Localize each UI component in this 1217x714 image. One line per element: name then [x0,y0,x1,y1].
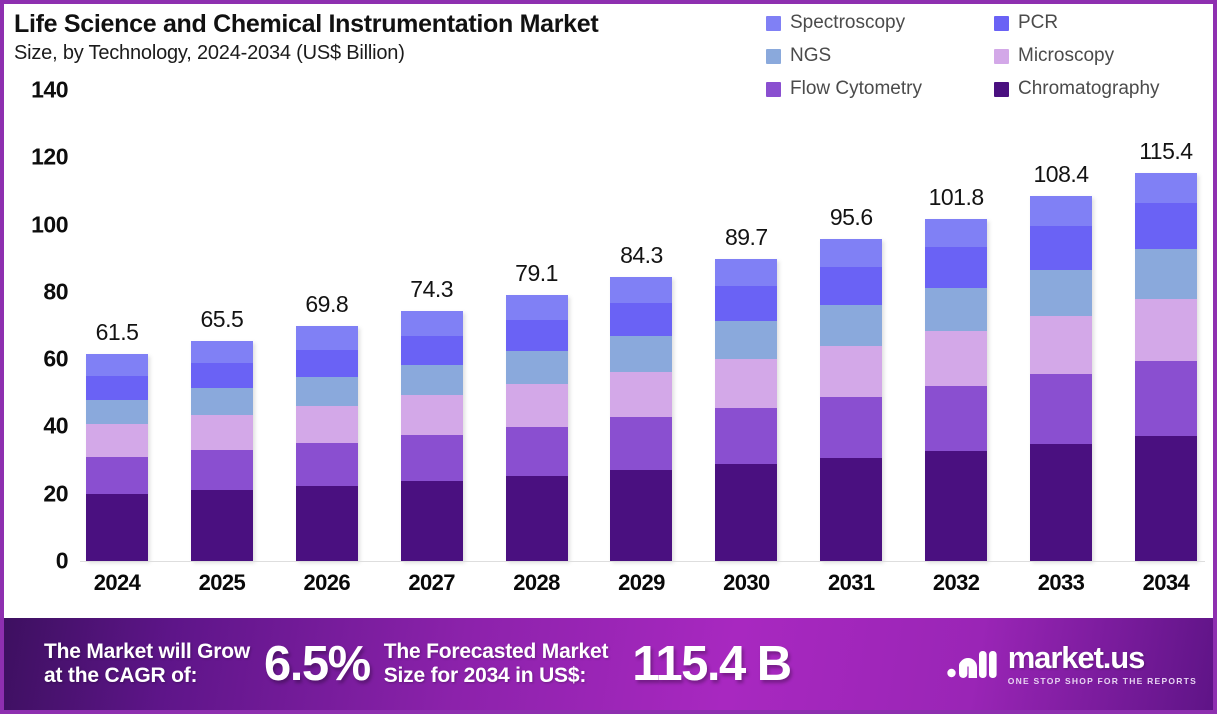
forecast-block: The Forecasted Market Size for 2034 in U… [384,640,609,689]
forecast-label-line2: Size for 2034 in US$: [384,664,609,688]
bar-segment-ngs[interactable] [506,351,568,384]
bar-stack[interactable] [86,354,148,561]
bar-segment-chromatography[interactable] [86,494,148,561]
bar-stack[interactable] [296,326,358,561]
y-axis-tick-20: 20 [43,480,68,507]
bar-segment-microscopy[interactable] [296,406,358,444]
bar-column-2032[interactable]: 101.8 [919,90,993,561]
bar-segment-flow-cytometry[interactable] [820,397,882,458]
bar-segment-pcr[interactable] [715,286,777,321]
y-axis-tick-80: 80 [43,278,68,305]
bar-column-2026[interactable]: 69.8 [290,90,364,561]
bar-segment-spectroscopy[interactable] [1135,173,1197,203]
x-axis-tick-2034: 2034 [1129,570,1203,610]
forecast-label-line1: The Forecasted Market [384,640,609,664]
bar-segment-microscopy[interactable] [925,331,987,386]
bar-segment-ngs[interactable] [86,400,148,425]
bar-stack[interactable] [1030,196,1092,561]
x-axis-tick-2030: 2030 [709,570,783,610]
bar-segment-microscopy[interactable] [820,346,882,398]
y-axis-tick-40: 40 [43,413,68,440]
x-axis-tick-2024: 2024 [80,570,154,610]
logo-tagline: ONE STOP SHOP FOR THE REPORTS [1008,676,1197,686]
bar-stack[interactable] [610,277,672,561]
bar-segment-chromatography[interactable] [820,458,882,561]
bar-segment-ngs[interactable] [820,305,882,345]
bar-segment-ngs[interactable] [1030,270,1092,316]
bar-segment-chromatography[interactable] [610,470,672,560]
bar-stack[interactable] [925,219,987,561]
bar-stack[interactable] [820,239,882,561]
bar-segment-flow-cytometry[interactable] [1135,361,1197,436]
bar-segment-flow-cytometry[interactable] [506,427,568,476]
x-axis-tick-2033: 2033 [1024,570,1098,610]
bar-segment-ngs[interactable] [191,388,253,415]
bar-segment-spectroscopy[interactable] [191,341,253,364]
plot-area: 020406080100120140 61.565.569.874.379.18… [4,90,1213,620]
bar-group: 61.565.569.874.379.184.389.795.6101.8108… [80,90,1203,561]
legend-swatch-icon [994,49,1009,64]
bar-segment-spectroscopy[interactable] [86,354,148,376]
bar-segment-chromatography[interactable] [1135,436,1197,561]
bar-segment-flow-cytometry[interactable] [1030,374,1092,444]
bar-total-label: 89.7 [709,224,783,251]
bar-total-label: 69.8 [290,291,364,318]
bar-segment-pcr[interactable] [1135,203,1197,250]
bar-segment-microscopy[interactable] [401,395,463,435]
legend-item-label: Microscopy [1018,45,1114,67]
bar-segment-flow-cytometry[interactable] [296,443,358,486]
y-axis: 020406080100120140 [4,90,76,568]
bar-segment-flow-cytometry[interactable] [86,457,148,494]
bar-segment-microscopy[interactable] [191,415,253,450]
bar-segment-pcr[interactable] [820,267,882,305]
cagr-label: The Market will Grow at the CAGR of: [44,640,250,689]
bar-total-label: 84.3 [604,242,678,269]
legend-item-ngs[interactable]: NGS [766,45,986,67]
page-title: Life Science and Chemical Instrumentatio… [14,10,759,38]
bar-segment-spectroscopy[interactable] [715,259,777,286]
bar-segment-flow-cytometry[interactable] [191,450,253,490]
bar-segment-flow-cytometry[interactable] [610,417,672,470]
bar-segment-pcr[interactable] [401,336,463,365]
cagr-block: The Market will Grow at the CAGR of: [44,640,250,689]
bar-total-label: 108.4 [1024,161,1098,188]
cagr-value: 6.5% [264,636,370,692]
bar-segment-chromatography[interactable] [191,490,253,561]
bar-segment-spectroscopy[interactable] [506,295,568,320]
bar-segment-spectroscopy[interactable] [610,277,672,303]
bar-segment-microscopy[interactable] [86,424,148,457]
bar-segment-ngs[interactable] [925,288,987,331]
x-axis: 2024202520262027202820292030203120322033… [80,570,1203,610]
bar-segment-chromatography[interactable] [715,464,777,561]
chart-infographic: Life Science and Chemical Instrumentatio… [0,0,1217,714]
y-axis-tick-120: 120 [31,144,68,171]
legend-item-label: NGS [790,45,831,67]
bar-segment-flow-cytometry[interactable] [401,435,463,481]
legend-swatch-icon [766,49,781,64]
legend-swatch-icon [766,16,781,31]
legend-item-label: PCR [1018,12,1058,34]
bar-segment-pcr[interactable] [506,320,568,351]
bar-total-label: 74.3 [395,276,469,303]
bar-column-2034[interactable]: 115.4 [1129,90,1203,561]
bar-column-2024[interactable]: 61.5 [80,90,154,561]
legend-swatch-icon [994,16,1009,31]
bar-total-label: 79.1 [500,260,574,287]
x-axis-tick-2031: 2031 [814,570,888,610]
bar-segment-pcr[interactable] [191,363,253,388]
bar-segment-spectroscopy[interactable] [401,311,463,336]
logo-name: market.us [1008,642,1197,673]
y-axis-tick-100: 100 [31,211,68,238]
bar-segment-spectroscopy[interactable] [1030,196,1092,226]
bar-total-label: 65.5 [185,306,259,333]
bar-segment-chromatography[interactable] [925,451,987,561]
cagr-label-line2: at the CAGR of: [44,664,250,688]
x-axis-tick-2025: 2025 [185,570,259,610]
bar-segment-flow-cytometry[interactable] [715,408,777,465]
x-axis-tick-2027: 2027 [395,570,469,610]
bar-segment-spectroscopy[interactable] [820,239,882,267]
bar-stack[interactable] [715,259,777,561]
bar-segment-pcr[interactable] [925,247,987,288]
bar-stack[interactable] [506,295,568,561]
bar-segment-pcr[interactable] [1030,226,1092,270]
y-axis-tick-140: 140 [31,77,68,104]
bar-total-label: 101.8 [919,184,993,211]
bar-segment-spectroscopy[interactable] [296,326,358,350]
x-axis-tick-2026: 2026 [290,570,364,610]
bar-segment-microscopy[interactable] [506,384,568,427]
bar-column-2027[interactable]: 74.3 [395,90,469,561]
bar-segment-chromatography[interactable] [506,476,568,561]
bar-column-2029[interactable]: 84.3 [604,90,678,561]
y-axis-tick-0: 0 [56,548,68,575]
chart-header: Life Science and Chemical Instrumentatio… [14,10,759,65]
bar-segment-pcr[interactable] [610,303,672,336]
bar-stack[interactable] [401,311,463,561]
chart-subtitle: Size, by Technology, 2024-2034 (US$ Bill… [14,42,759,65]
bar-segment-chromatography[interactable] [1030,444,1092,561]
axis-baseline [80,561,1205,562]
bar-segment-flow-cytometry[interactable] [925,386,987,451]
bar-total-label: 61.5 [80,319,154,346]
bar-segment-ngs[interactable] [715,321,777,359]
x-axis-tick-2032: 2032 [919,570,993,610]
x-axis-tick-2028: 2028 [500,570,574,610]
y-axis-tick-60: 60 [43,346,68,373]
bar-segment-microscopy[interactable] [715,359,777,407]
bar-segment-ngs[interactable] [401,365,463,396]
cagr-label-line1: The Market will Grow [44,640,250,664]
bar-total-label: 95.6 [814,204,888,231]
bar-segment-chromatography[interactable] [401,481,463,561]
bar-segment-ngs[interactable] [1135,249,1197,298]
bar-segment-pcr[interactable] [86,376,148,400]
chart-legend: SpectroscopyPCRNGSMicroscopyFlow Cytomet… [766,12,1214,100]
forecast-label: The Forecasted Market Size for 2034 in U… [384,640,609,689]
footer-banner: The Market will Grow at the CAGR of: 6.5… [4,618,1213,710]
forecast-value: 115.4 B [632,636,790,692]
bar-column-2025[interactable]: 65.5 [185,90,259,561]
bar-segment-microscopy[interactable] [1030,316,1092,375]
bar-segment-ngs[interactable] [296,377,358,406]
bar-stack[interactable] [1135,173,1197,561]
logo-text: market.us ONE STOP SHOP FOR THE REPORTS [1008,642,1197,686]
legend-item-microscopy[interactable]: Microscopy [994,45,1214,67]
bar-segment-ngs[interactable] [610,336,672,371]
bar-column-2033[interactable]: 108.4 [1024,90,1098,561]
legend-item-pcr[interactable]: PCR [994,12,1214,34]
legend-item-label: Spectroscopy [790,12,905,34]
bar-segment-microscopy[interactable] [610,372,672,418]
bar-segment-chromatography[interactable] [296,486,358,561]
bar-column-2031[interactable]: 95.6 [814,90,888,561]
legend-item-spectroscopy[interactable]: Spectroscopy [766,12,986,34]
bar-stack[interactable] [191,341,253,561]
market-us-logo-icon [946,643,998,685]
bar-column-2030[interactable]: 89.7 [709,90,783,561]
brand-logo[interactable]: market.us ONE STOP SHOP FOR THE REPORTS [946,642,1197,686]
bar-segment-microscopy[interactable] [1135,299,1197,361]
x-axis-tick-2029: 2029 [604,570,678,610]
bar-segment-spectroscopy[interactable] [925,219,987,248]
bar-column-2028[interactable]: 79.1 [500,90,574,561]
bar-total-label: 115.4 [1129,138,1203,165]
bar-segment-pcr[interactable] [296,350,358,377]
